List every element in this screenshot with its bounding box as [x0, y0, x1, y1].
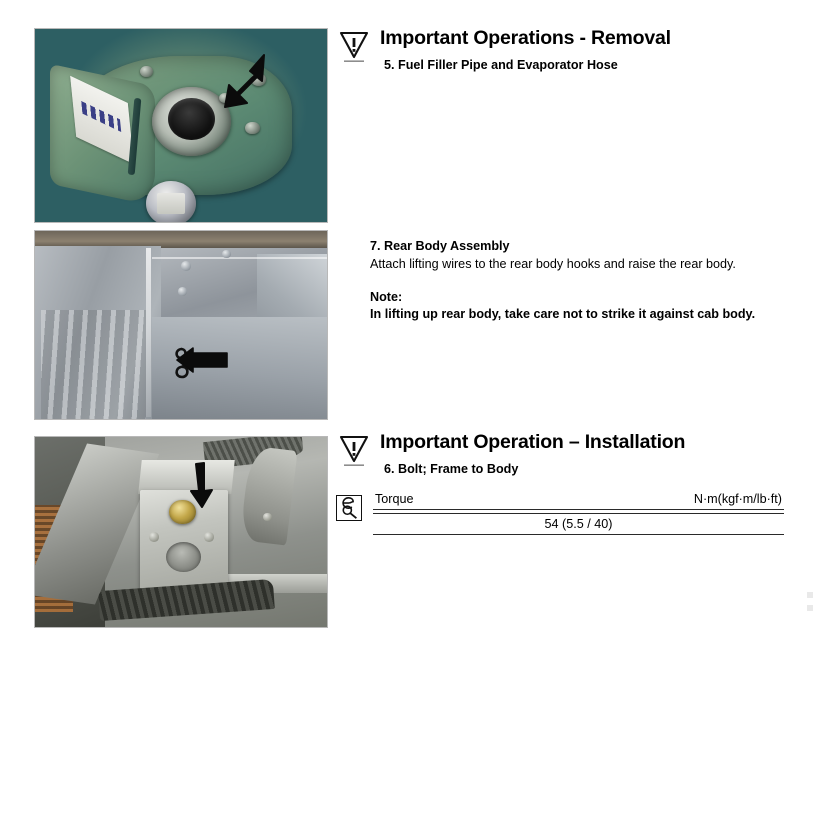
torque-wrench-icon — [336, 495, 362, 521]
bed-ribs — [41, 310, 146, 419]
bed-bolt-1 — [181, 261, 191, 271]
rear-body-hook-photo — [34, 230, 328, 420]
section-header-installation: Important Operation – Installation 6. Bo… — [338, 432, 685, 476]
bed-seam — [152, 257, 327, 259]
filler-bolt-3 — [245, 122, 260, 135]
torque-label: Torque — [375, 492, 414, 506]
section-subtitle: 5. Fuel Filler Pipe and Evaporator Hose — [384, 58, 671, 72]
torque-specification: Torque N·m(kgf·m/lb·ft) 54 (5.5 / 40) — [336, 492, 784, 535]
fuel-cap — [146, 181, 196, 222]
under-frame-strip — [98, 579, 275, 622]
bracket-bolt-3 — [263, 513, 272, 521]
torque-units: N·m(kgf·m/lb·ft) — [694, 492, 782, 506]
bracket-bolt-1 — [149, 532, 159, 542]
installation-title: Important Operation – Installation — [380, 432, 685, 453]
bracket-slot — [166, 542, 201, 572]
rear-body-title: 7. Rear Body Assembly — [370, 238, 770, 255]
down-arrow-icon — [185, 461, 217, 509]
frame-to-body-bolt-photo — [34, 436, 328, 628]
rear-body-text-block: 7. Rear Body Assembly Attach lifting wir… — [370, 238, 770, 324]
page-title: Important Operations - Removal — [380, 28, 671, 49]
manual-page: Important Operations - Removal 5. Fuel F… — [0, 0, 816, 816]
torque-value: 54 (5.5 / 40) — [373, 514, 784, 535]
bed-edge-highlight — [146, 248, 151, 417]
filler-neck-opening — [168, 98, 215, 140]
warning-triangle-icon — [338, 434, 370, 468]
note-label: Note: — [370, 289, 770, 306]
filler-bolt-4 — [140, 66, 153, 77]
warning-triangle-icon — [338, 30, 370, 64]
bed-bolt-2 — [178, 287, 187, 296]
bed-bolt-3 — [222, 250, 231, 259]
fuel-filler-pipe-photo — [34, 28, 328, 223]
rear-body-paragraph: Attach lifting wires to the rear body ho… — [370, 256, 770, 273]
down-left-arrow-icon — [223, 53, 269, 109]
note-text: In lifting up rear body, take care not t… — [370, 306, 770, 323]
section-header-removal: Important Operations - Removal 5. Fuel F… — [338, 28, 671, 72]
bracket-bolt-2 — [204, 532, 214, 542]
installation-subtitle: 6. Bolt; Frame to Body — [384, 462, 685, 476]
page-edge-artifact — [807, 592, 813, 618]
left-arrow-icon — [175, 347, 229, 373]
